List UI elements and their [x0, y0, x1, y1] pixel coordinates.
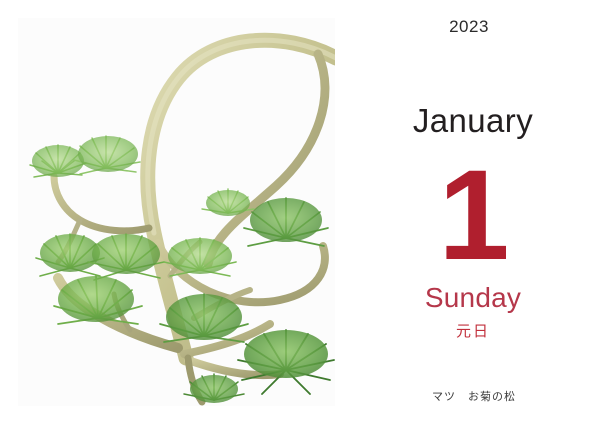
calendar-page: 2023 January 1 Sunday 元日 マツ お菊の松 — [0, 0, 600, 428]
calendar-weekday: Sunday — [352, 284, 600, 312]
calendar-month: January — [352, 104, 600, 139]
calendar-year: 2023 — [352, 17, 600, 37]
photo-caption: マツ お菊の松 — [352, 391, 600, 403]
pine-bonsai-photograph — [18, 18, 335, 406]
pine-bonsai-illustration — [18, 18, 335, 406]
calendar-day-number: 1 — [352, 152, 600, 280]
calendar-text-column: 2023 January 1 Sunday 元日 マツ お菊の松 — [352, 0, 600, 428]
calendar-holiday-label: 元日 — [352, 324, 600, 339]
